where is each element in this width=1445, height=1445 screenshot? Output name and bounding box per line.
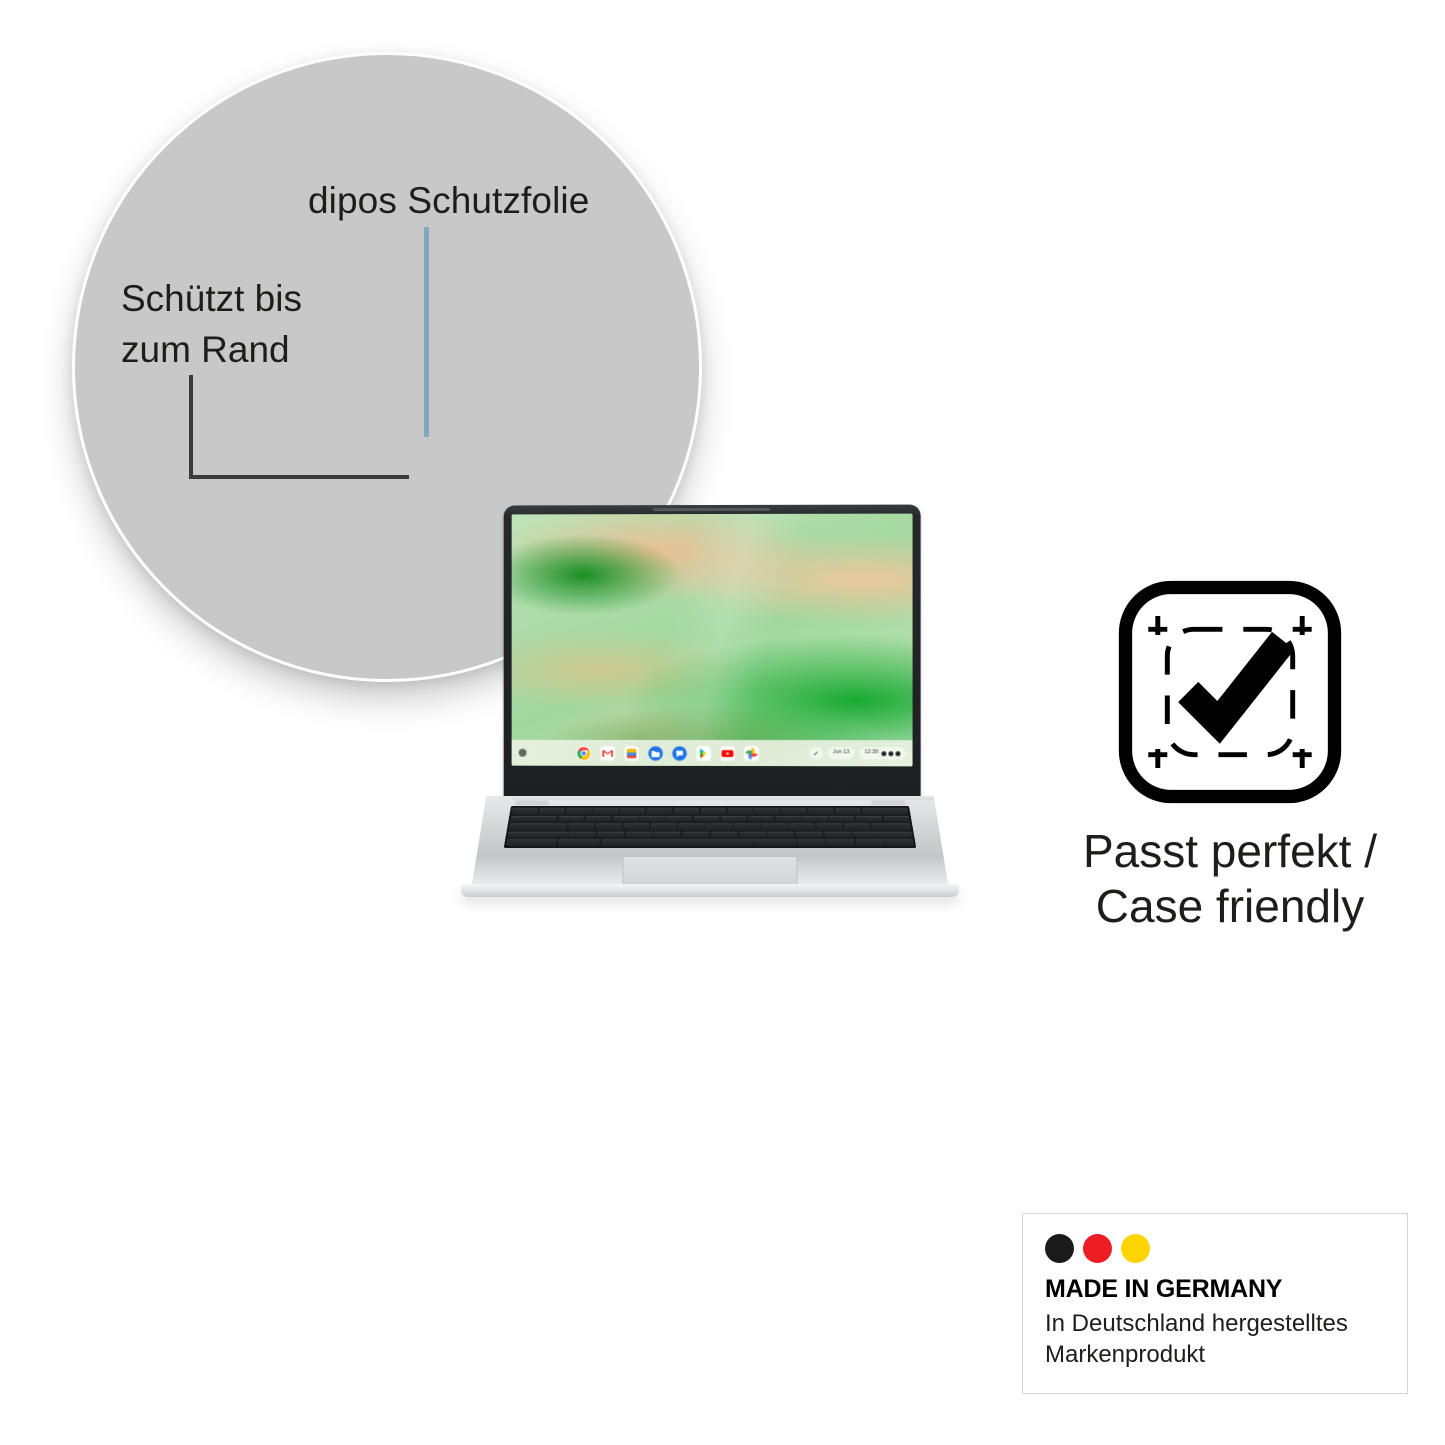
shelf-system-tray[interactable]: 12:30 xyxy=(860,747,906,759)
keyboard-row xyxy=(509,823,911,829)
germany-badge-title: MADE IN GERMANY xyxy=(1045,1274,1385,1304)
flag-dot-red xyxy=(1083,1234,1112,1263)
chrome-app-icon[interactable] xyxy=(576,745,591,760)
laptop-lid: Jun 13 12:30 acer xyxy=(504,505,921,801)
speaker-grille-left xyxy=(515,799,549,805)
keyboard-row xyxy=(506,839,914,846)
flag-dot-black xyxy=(1045,1234,1074,1263)
shelf-app-list xyxy=(527,745,809,760)
keyboard-row xyxy=(510,816,909,822)
settings-icon xyxy=(895,751,900,756)
docs-app-icon[interactable] xyxy=(624,745,639,760)
protective-film-edge-line xyxy=(424,227,429,437)
acer-chromebook-product-photo: Jun 13 12:30 acer xyxy=(455,505,965,915)
keyboard-row xyxy=(508,831,913,838)
wifi-icon xyxy=(888,751,893,756)
laptop-base xyxy=(455,796,965,908)
tray-icon-group xyxy=(881,751,900,756)
fit-check-icon xyxy=(1116,578,1344,806)
files-app-icon[interactable] xyxy=(648,745,663,760)
product-image-canvas: dipos Schutzfolie Schützt bis zum Rand xyxy=(0,0,1445,1445)
german-flag-dots xyxy=(1045,1234,1385,1263)
chromeos-shelf: Jun 13 12:30 xyxy=(512,740,913,767)
made-in-germany-badge: MADE IN GERMANY In Deutschland hergestel… xyxy=(1022,1213,1408,1394)
magnifier-subtitle: Schützt bis zum Rand xyxy=(121,273,302,375)
shelf-date[interactable]: Jun 13 xyxy=(828,747,855,759)
flag-dot-gold xyxy=(1121,1234,1150,1263)
play-store-app-icon[interactable] xyxy=(696,745,711,760)
keyboard xyxy=(504,806,917,848)
fit-badge: Passt perfekt / Case friendly xyxy=(1040,578,1420,934)
keyboard-row xyxy=(512,808,909,814)
laptop-screen: Jun 13 12:30 xyxy=(512,514,913,767)
shelf-time-label: 12:30 xyxy=(865,750,879,756)
stylus-button[interactable] xyxy=(809,747,823,759)
speaker-grille-right xyxy=(871,799,905,805)
fit-badge-label: Passt perfekt / Case friendly xyxy=(1040,824,1420,934)
base-front-lip xyxy=(461,884,959,897)
device-edge-bracket-icon xyxy=(189,375,409,479)
magnifier-title: dipos Schutzfolie xyxy=(308,180,702,222)
keyboard-deck xyxy=(471,796,949,890)
desktop-wallpaper xyxy=(512,514,913,767)
launcher-button[interactable] xyxy=(519,749,527,757)
battery-icon xyxy=(881,751,886,756)
stylus-icon xyxy=(813,750,819,756)
shelf-date-label: Jun 13 xyxy=(833,750,850,756)
shelf-status-area: Jun 13 12:30 xyxy=(809,747,906,759)
youtube-app-icon[interactable] xyxy=(720,746,735,761)
germany-badge-subtitle: In Deutschland hergestelltes Markenprodu… xyxy=(1045,1308,1385,1370)
photos-app-icon[interactable] xyxy=(744,746,759,761)
messages-app-icon[interactable] xyxy=(672,745,687,760)
gmail-app-icon[interactable] xyxy=(600,745,615,760)
